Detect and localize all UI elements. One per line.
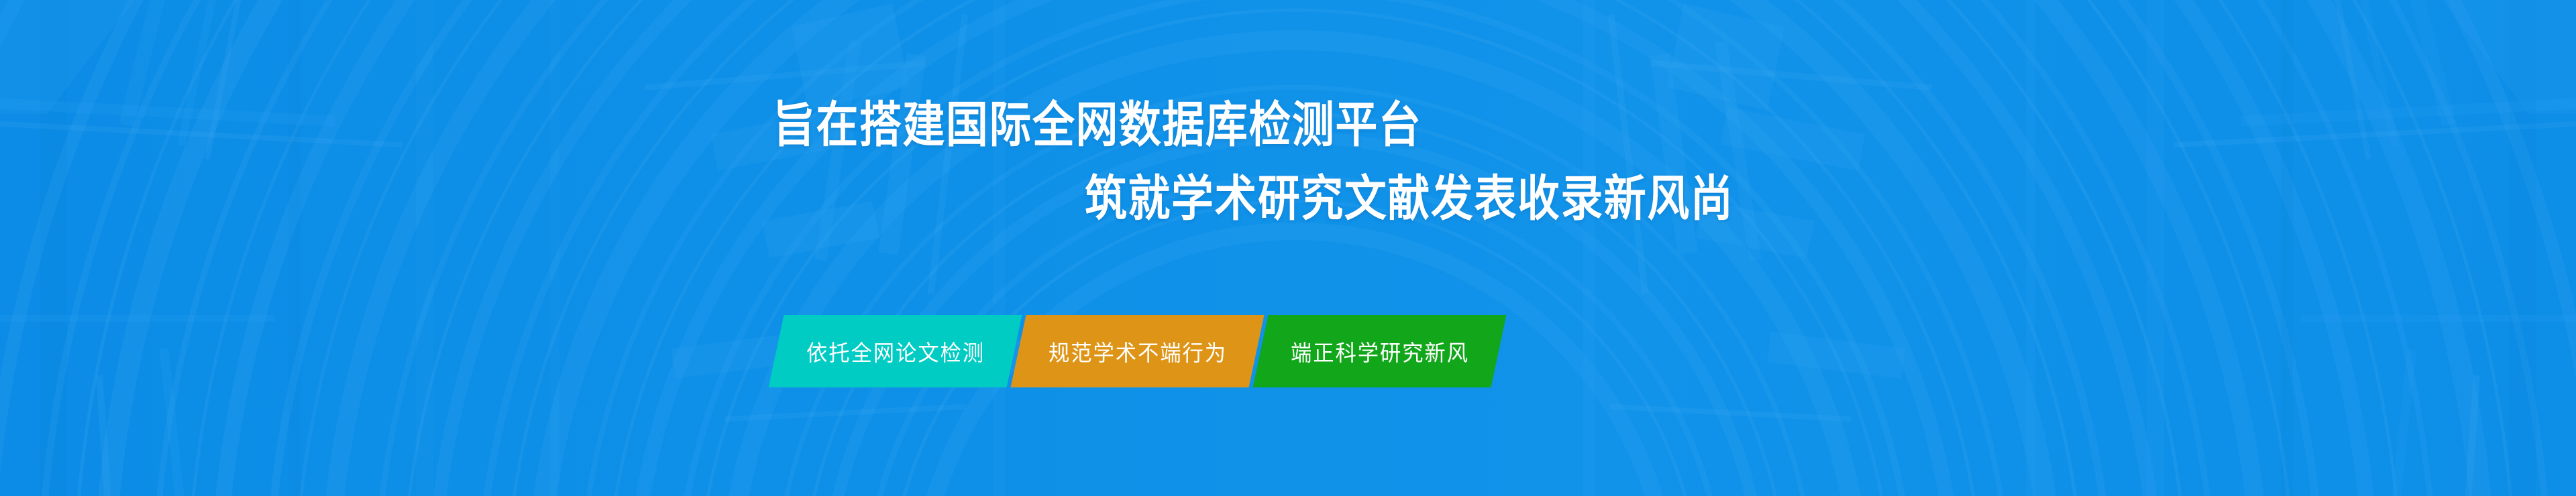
- feature-badge-label: 端正科学研究新风: [1291, 335, 1469, 367]
- feature-badge-strip: 依托全网论文检测 规范学术不端行为 端正科学研究新风: [776, 315, 1499, 387]
- hero-banner: 旨在搭建国际全网数据库检测平台 筑就学术研究文献发表收录新风尚 依托全网论文检测…: [0, 0, 2576, 496]
- feature-badge-research-ethos[interactable]: 端正科学研究新风: [1260, 315, 1499, 387]
- feature-badge-label: 依托全网论文检测: [806, 335, 985, 367]
- feature-badge-misconduct[interactable]: 规范学术不端行为: [1018, 315, 1256, 387]
- feature-badge-paper-detection[interactable]: 依托全网论文检测: [776, 315, 1014, 387]
- background-pattern: [0, 0, 2576, 496]
- feature-badge-label: 规范学术不端行为: [1049, 335, 1227, 367]
